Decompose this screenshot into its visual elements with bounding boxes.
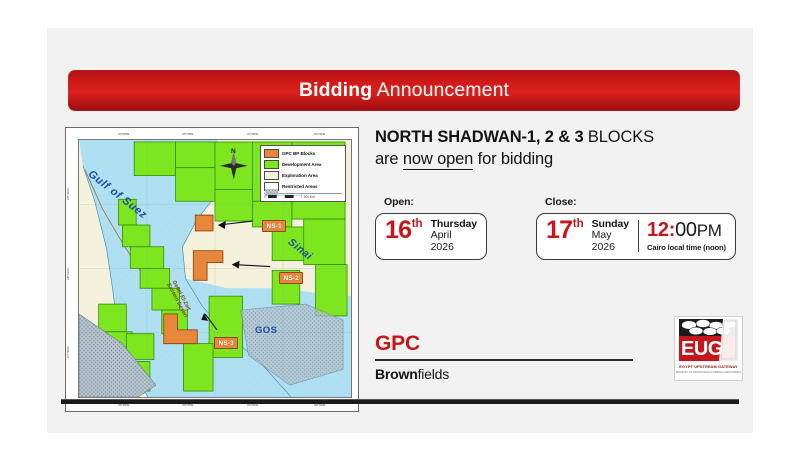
svg-text:EUG: EUG (681, 338, 723, 360)
scale-bar-graphic (268, 195, 302, 199)
map-block-tag-ns3: NS-3 (214, 337, 238, 349)
close-year: 2026 (592, 242, 629, 254)
legend-item-gpc-bp-blocks: GPC BP Blocks (264, 149, 342, 158)
footer-brand-row: GPC Brownfields (375, 316, 743, 381)
bidding-dates-row: Open: 16 th Thursday April 2026 Close: (375, 196, 737, 260)
headline-blocks-name: NORTH SHADWAN-1, 2 & 3 (375, 128, 583, 146)
open-day-number: 16 (385, 218, 411, 243)
legend-item-restricted-areas: Restricted Areas (264, 182, 342, 191)
announcement-content-column: NORTH SHADWAN-1, 2 & 3 BLOCKS are now op… (375, 127, 737, 260)
eug-logo: EUG EGYPT UPSTREAM GATEWAY MINISTRY OF P… (674, 316, 743, 381)
close-date-card: 17 th Sunday May 2026 12:00PM Cairo loca… (536, 213, 736, 260)
open-date-card: 16 th Thursday April 2026 (375, 213, 487, 260)
banner-title: Bidding Announcement (299, 79, 509, 102)
legend-label-gpc-bp-blocks: GPC BP Blocks (282, 151, 315, 156)
map-coord-top-1: 33°00'E (118, 132, 129, 136)
close-day-part: 17 th (546, 218, 586, 254)
map-coord-left-1: 28°30'N (66, 188, 70, 200)
close-caption: Close: (545, 196, 736, 208)
map-coord-left-2: 28°00'N (66, 268, 70, 280)
legend-item-development-area: Development Area (264, 160, 342, 169)
close-time-block: 12:00PM Cairo local time (noon) (647, 218, 726, 254)
close-time-hour: 12 (647, 219, 669, 241)
close-time-minutes: 00 (675, 219, 697, 241)
close-time-ampm: PM (697, 221, 722, 240)
page-title: NORTH SHADWAN-1, 2 & 3 BLOCKS are now op… (375, 127, 737, 170)
legend-swatch-development-area (264, 160, 279, 169)
map-panel: 33°00'E 33°30'E 34°00'E 34°30'E 33°00'E … (65, 127, 359, 412)
scale-label-0: 0 (264, 195, 266, 199)
close-time-divider (638, 220, 639, 252)
open-date-group: Open: 16 th Thursday April 2026 (375, 196, 487, 260)
headline-blocks-word: BLOCKS (583, 128, 653, 146)
banner-title-bold: Bidding (299, 79, 372, 101)
open-caption: Open: (384, 196, 487, 208)
close-time-note: Cairo local time (noon) (647, 243, 726, 252)
map-block-tag-ns1: NS-1 (262, 220, 286, 232)
scale-label-100: 100 Km (304, 195, 315, 199)
close-day-ordinal: th (573, 219, 584, 231)
map-coord-left-3: 27°30'N (66, 346, 70, 358)
eug-subtagline: MINISTRY OF PETROLEUM & MINERAL RESOURCE… (675, 371, 742, 374)
legend-swatch-exploration-area (264, 171, 279, 180)
map-canvas: N Gulf of Suez Sinai GOS Gebel El-Zeit E… (78, 139, 352, 398)
gpc-logo-text: GPC (375, 333, 633, 354)
brownfields-label: Brownfields (375, 367, 633, 381)
headline-line-2: are now open for bidding (375, 149, 737, 170)
open-day-ordinal: th (412, 219, 423, 231)
legend-swatch-gpc-bp-blocks (264, 149, 279, 158)
headline-emphasis: now open (403, 150, 473, 170)
close-time-value: 12:00PM (647, 220, 726, 240)
open-year: 2026 (431, 242, 477, 254)
close-date-text: Sunday May 2026 (592, 218, 629, 254)
brand-divider (375, 359, 633, 361)
close-day-number: 17 (546, 218, 572, 243)
eug-logo-artwork: EUG (675, 317, 742, 365)
map-legend: GPC BP Blocks Development Area Explorati… (260, 145, 346, 202)
map-coord-top-3: 34°00'E (247, 132, 258, 136)
headline-prefix: are (375, 150, 403, 168)
brownfields-bold: Brown (375, 366, 418, 382)
banner-title-light: Announcement (372, 79, 509, 101)
map-coord-top-4: 34°30'E (314, 132, 325, 136)
legend-label-development-area: Development Area (282, 162, 321, 167)
map-coord-top-2: 33°30'E (182, 132, 193, 136)
announcement-slide-card: Bidding Announcement 33°00'E 33°30'E 34°… (47, 28, 753, 433)
map-block-tag-ns2: NS-2 (279, 272, 303, 284)
footer-divider-rule (61, 399, 739, 404)
legend-label-exploration-area: Exploration Area (282, 173, 318, 178)
legend-item-exploration-area: Exploration Area (264, 171, 342, 180)
legend-label-restricted-areas: Restricted Areas (282, 184, 318, 189)
close-date-group: Close: 17 th Sunday May 2026 12:00PM Cai… (536, 196, 736, 260)
open-date-text: Thursday April 2026 (431, 218, 477, 254)
headline-suffix: for bidding (473, 150, 553, 168)
legend-swatch-restricted-areas (264, 182, 279, 191)
headline-line-1: NORTH SHADWAN-1, 2 & 3 BLOCKS (375, 127, 737, 148)
gpc-brand-block: GPC Brownfields (375, 333, 633, 381)
open-day-part: 16 th (385, 218, 425, 254)
eug-tagline: EGYPT UPSTREAM GATEWAY (675, 365, 742, 370)
bidding-announcement-banner: Bidding Announcement (68, 70, 740, 111)
brownfields-light: fields (418, 366, 449, 382)
